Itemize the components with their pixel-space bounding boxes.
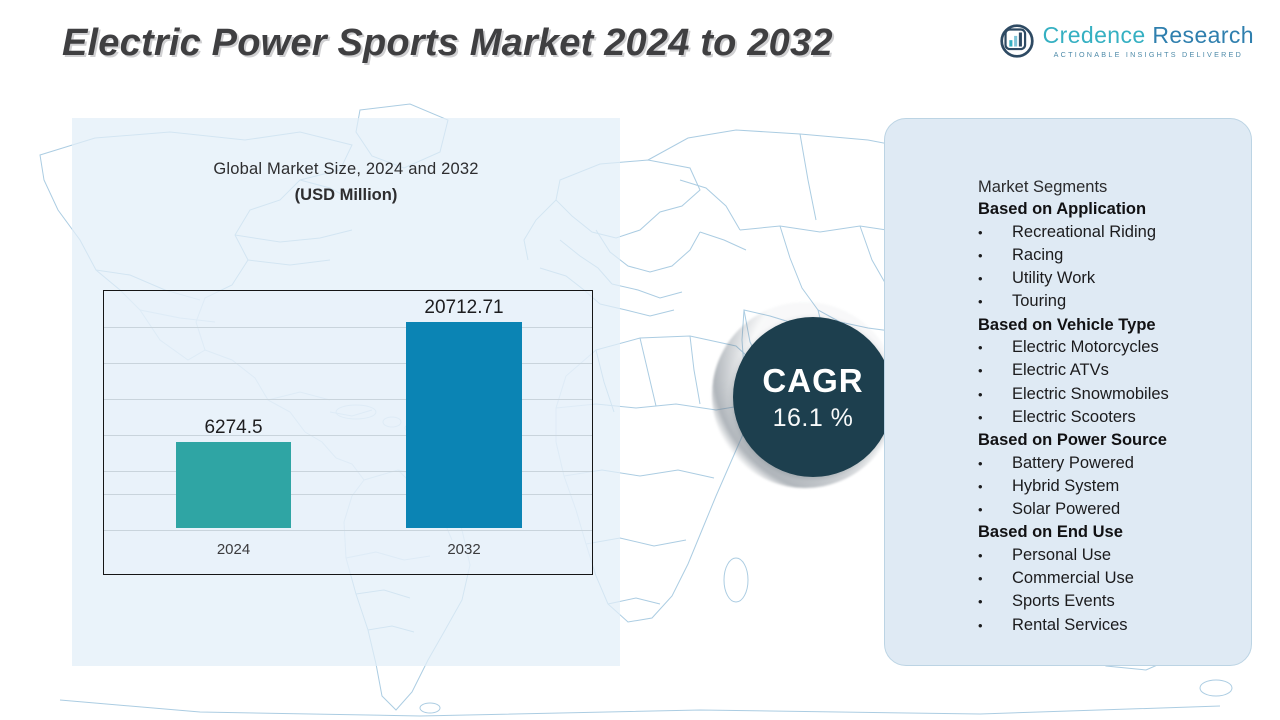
segment-item-label: Racing bbox=[1012, 244, 1063, 266]
chart-title: Global Market Size, 2024 and 2032 (USD M… bbox=[72, 160, 620, 205]
segment-item: • Electric Scooters bbox=[978, 406, 1258, 429]
cagr-badge: CAGR 16.1 % bbox=[733, 317, 893, 477]
infographic-canvas: Electric Power Sports Market 2024 to 203… bbox=[0, 0, 1280, 720]
bar-value-2032: 20712.71 bbox=[406, 297, 522, 319]
bullet-icon: • bbox=[978, 615, 1012, 637]
segment-item: • Commercial Use bbox=[978, 567, 1258, 590]
bar-chart-plot-area: 6274.5 20712.71 2024 2032 bbox=[103, 290, 593, 575]
segment-item: • Touring bbox=[978, 290, 1258, 313]
bullet-icon: • bbox=[978, 291, 1012, 313]
segment-item-label: Rental Services bbox=[1012, 614, 1128, 636]
bar-2032 bbox=[406, 322, 522, 528]
segment-heading-end-use: Based on End Use bbox=[978, 521, 1258, 543]
segment-item-label: Battery Powered bbox=[1012, 452, 1134, 474]
logo-name: Credence Research bbox=[1043, 24, 1254, 47]
segment-item-label: Touring bbox=[1012, 290, 1066, 312]
segment-item: • Rental Services bbox=[978, 614, 1258, 637]
logo-text: Credence Research ACTIONABLE INSIGHTS DE… bbox=[1043, 24, 1254, 58]
segment-heading-power-source: Based on Power Source bbox=[978, 429, 1258, 451]
segment-item: • Solar Powered bbox=[978, 498, 1258, 521]
segment-item-label: Electric Scooters bbox=[1012, 406, 1136, 428]
bullet-icon: • bbox=[978, 407, 1012, 429]
segment-item: • Electric ATVs bbox=[978, 359, 1258, 382]
chart-title-line1: Global Market Size, 2024 and 2032 bbox=[72, 160, 620, 179]
segments-list: Market Segments Based on Application • R… bbox=[978, 176, 1258, 637]
bullet-icon: • bbox=[978, 360, 1012, 382]
bullet-icon: • bbox=[978, 245, 1012, 267]
segment-item: • Electric Snowmobiles bbox=[978, 383, 1258, 406]
gridline bbox=[104, 530, 592, 531]
bullet-icon: • bbox=[978, 499, 1012, 521]
segment-item-label: Commercial Use bbox=[1012, 567, 1134, 589]
category-label-2024: 2024 bbox=[166, 541, 301, 558]
brand-logo: Credence Research ACTIONABLE INSIGHTS DE… bbox=[1000, 24, 1254, 58]
segment-item-label: Electric Snowmobiles bbox=[1012, 383, 1169, 405]
segment-item: • Electric Motorcycles bbox=[978, 336, 1258, 359]
bullet-icon: • bbox=[978, 591, 1012, 613]
bullet-icon: • bbox=[978, 222, 1012, 244]
segment-item-label: Solar Powered bbox=[1012, 498, 1120, 520]
segment-item: • Sports Events bbox=[978, 590, 1258, 613]
segment-item: • Racing bbox=[978, 244, 1258, 267]
bullet-icon: • bbox=[978, 384, 1012, 406]
bullet-icon: • bbox=[978, 268, 1012, 290]
bar-value-2024: 6274.5 bbox=[176, 417, 291, 439]
chart-title-line2: (USD Million) bbox=[72, 186, 620, 205]
bullet-icon: • bbox=[978, 545, 1012, 567]
segment-item: • Battery Powered bbox=[978, 452, 1258, 475]
bullet-icon: • bbox=[978, 568, 1012, 590]
logo-tagline: ACTIONABLE INSIGHTS DELIVERED bbox=[1043, 51, 1254, 58]
segment-item-label: Electric ATVs bbox=[1012, 359, 1109, 381]
bar-2024 bbox=[176, 442, 291, 528]
segment-item: • Hybrid System bbox=[978, 475, 1258, 498]
bullet-icon: • bbox=[978, 476, 1012, 498]
page-title: Electric Power Sports Market 2024 to 203… bbox=[62, 22, 833, 65]
segment-item-label: Hybrid System bbox=[1012, 475, 1119, 497]
bullet-icon: • bbox=[978, 453, 1012, 475]
segment-item-label: Personal Use bbox=[1012, 544, 1111, 566]
segment-item: • Recreational Riding bbox=[978, 221, 1258, 244]
logo-name-part2: Research bbox=[1152, 22, 1254, 48]
segments-title: Market Segments bbox=[978, 176, 1258, 198]
segment-heading-application: Based on Application bbox=[978, 198, 1258, 220]
segment-item: • Utility Work bbox=[978, 267, 1258, 290]
bullet-icon: • bbox=[978, 337, 1012, 359]
bar-chart-circle-icon bbox=[1000, 24, 1034, 58]
category-label-2032: 2032 bbox=[396, 541, 532, 558]
cagr-label: CAGR bbox=[762, 364, 863, 397]
segment-item-label: Utility Work bbox=[1012, 267, 1095, 289]
segment-item-label: Recreational Riding bbox=[1012, 221, 1156, 243]
segment-heading-vehicle-type: Based on Vehicle Type bbox=[978, 314, 1258, 336]
segment-item: • Personal Use bbox=[978, 544, 1258, 567]
logo-name-part1: Credence bbox=[1043, 22, 1146, 48]
segment-item-label: Sports Events bbox=[1012, 590, 1115, 612]
segment-item-label: Electric Motorcycles bbox=[1012, 336, 1159, 358]
cagr-value: 16.1 % bbox=[773, 406, 854, 431]
